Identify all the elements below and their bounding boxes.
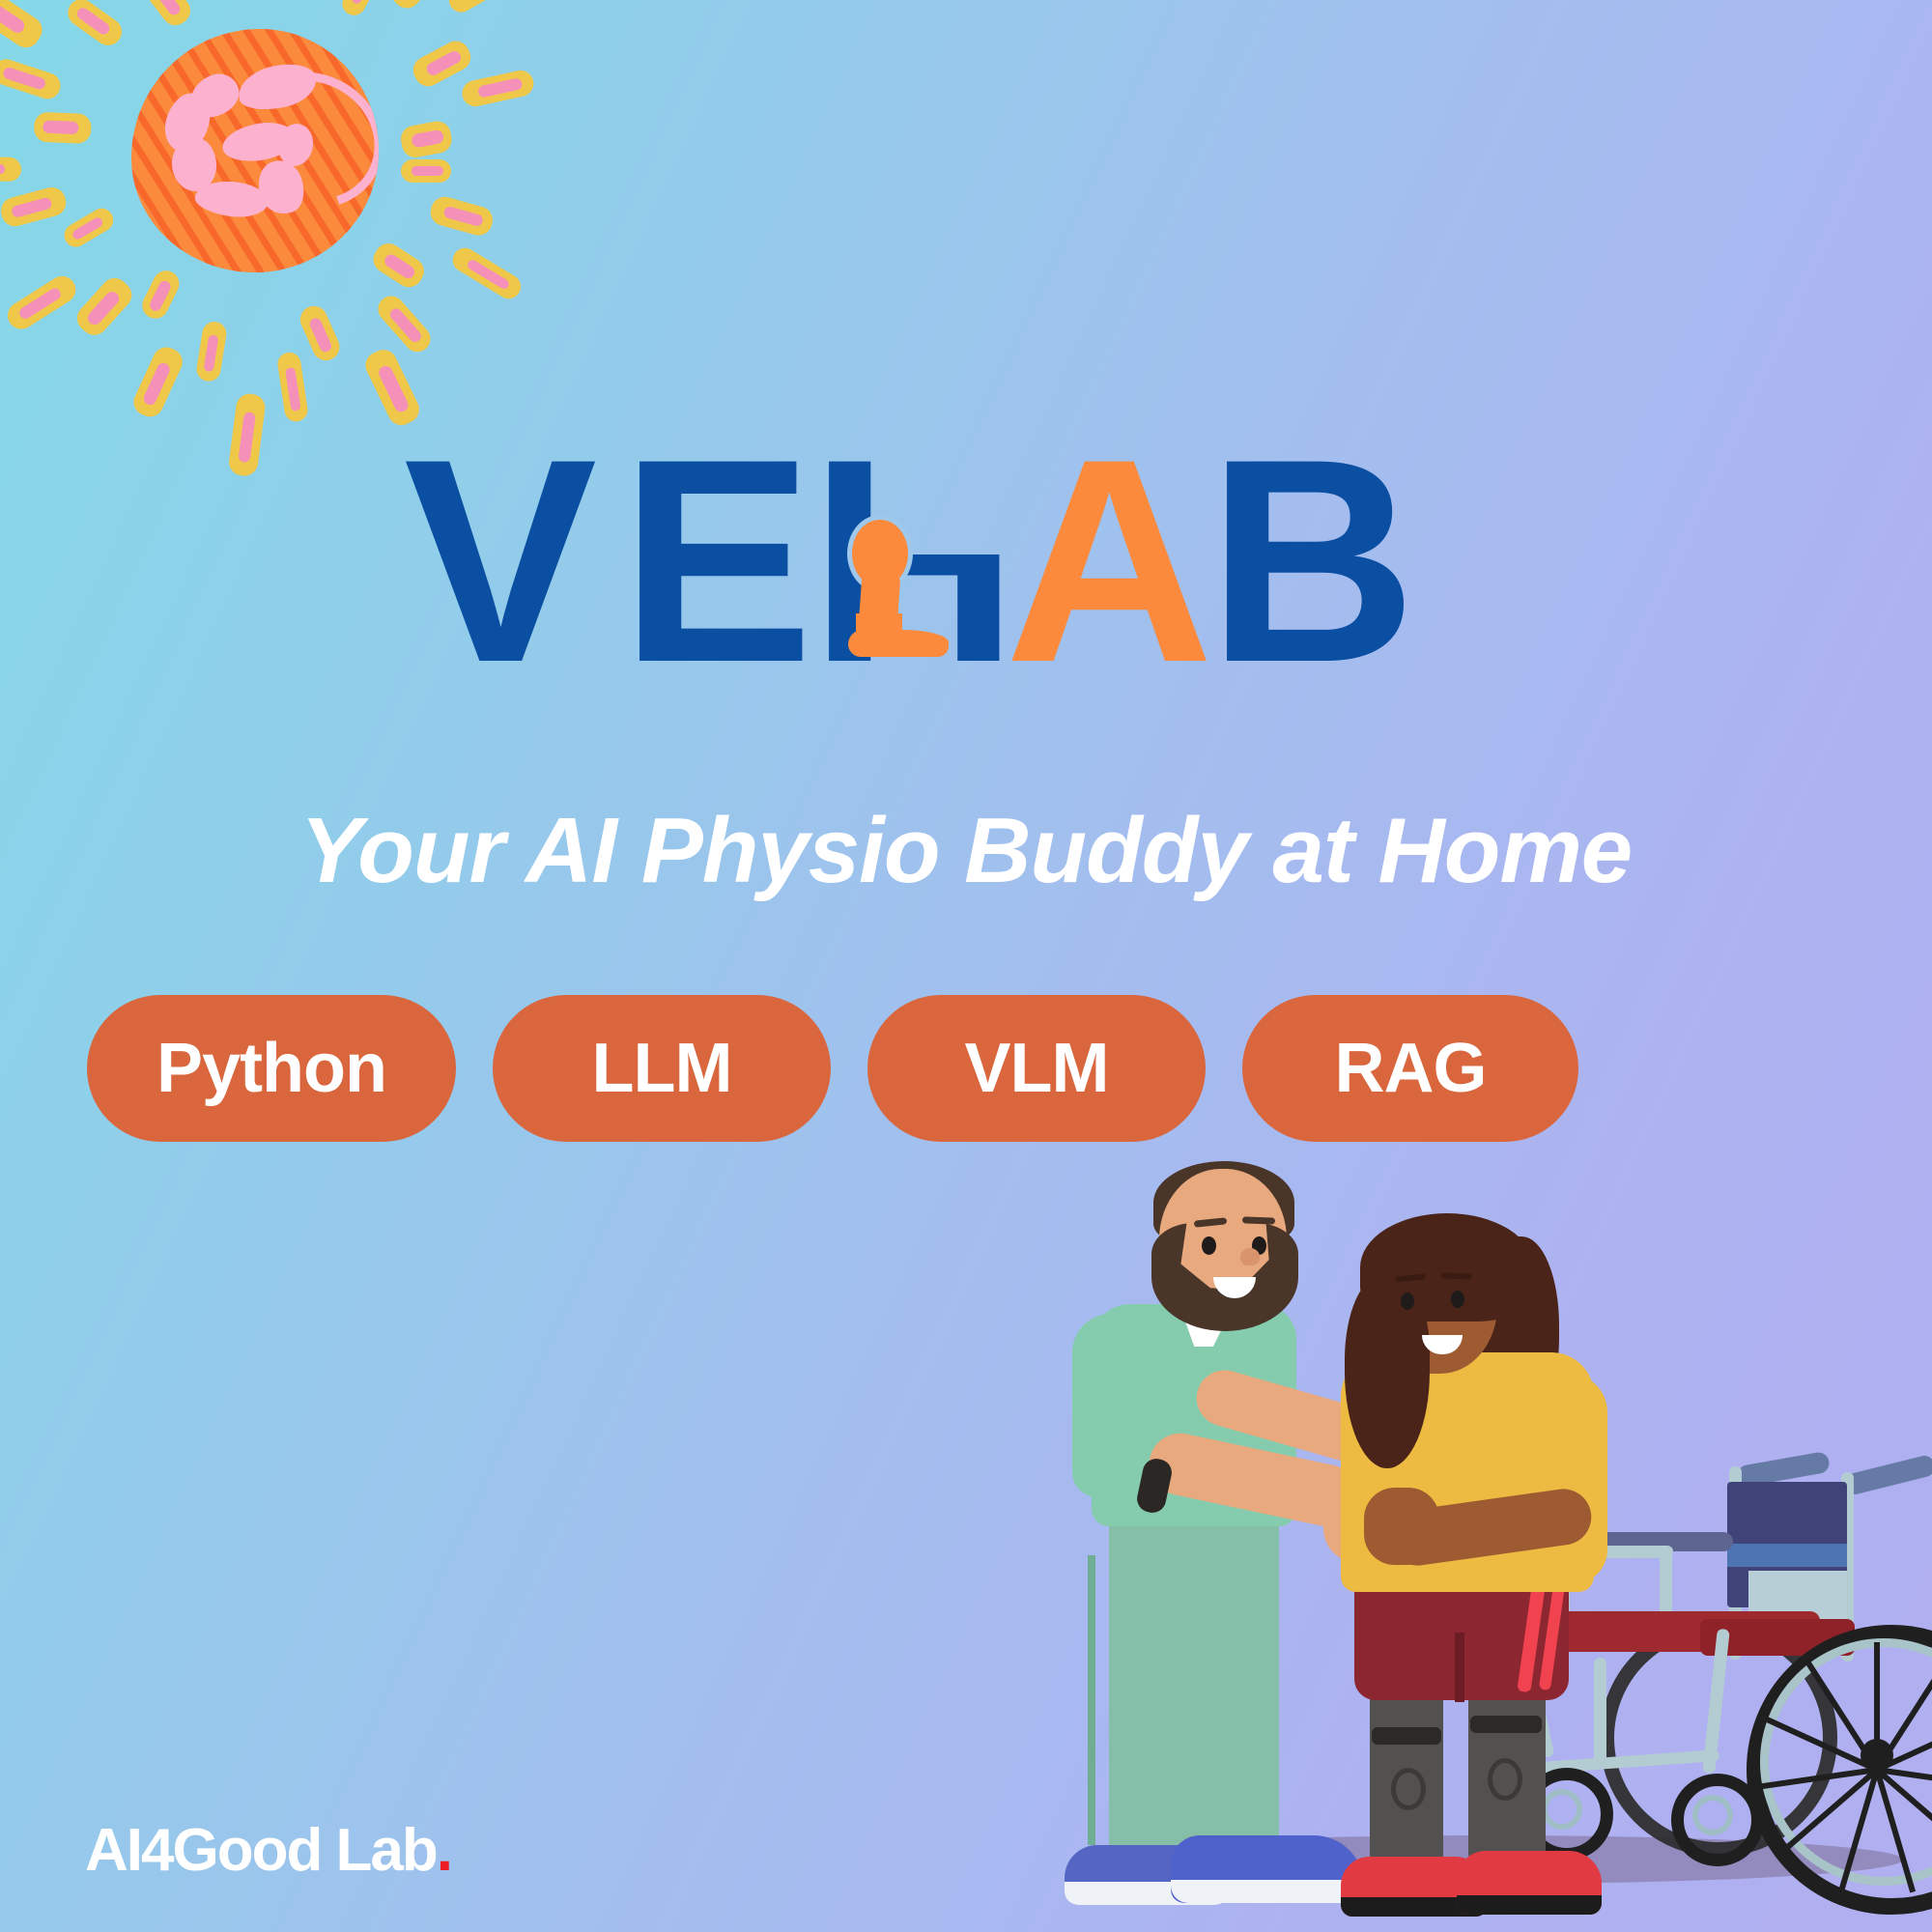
sun-ray xyxy=(142,0,195,31)
sun-core xyxy=(131,29,379,272)
shoe-icon xyxy=(1457,1851,1602,1915)
ai4good-lab-logo: AI4Good Lab. xyxy=(85,1816,451,1885)
tech-tag-llm[interactable]: LLM xyxy=(493,995,831,1142)
sun-ray xyxy=(129,343,187,421)
sun-ray xyxy=(62,0,127,50)
tech-tag-rag[interactable]: RAG xyxy=(1242,995,1578,1142)
sun-ray xyxy=(138,266,184,323)
physiotherapist-and-patient-illustration xyxy=(1005,1130,1932,1932)
sun-ray xyxy=(428,193,497,238)
vehab-logo: V E H A B xyxy=(0,415,1932,667)
sun-ray xyxy=(460,69,536,109)
sun-ray xyxy=(445,0,528,16)
tagline: Your AI Physio Buddy at Home xyxy=(0,798,1932,904)
logo-letter-v: V xyxy=(404,415,597,705)
sun-ray xyxy=(373,290,436,356)
logo-letter-e: E xyxy=(620,415,813,705)
tech-tag-list: Python LLM VLM RAG xyxy=(87,995,1855,1142)
sun-ray xyxy=(276,352,309,423)
shoe-icon xyxy=(1171,1835,1364,1903)
wheelchair-icon xyxy=(1565,1449,1932,1884)
sun-ray xyxy=(0,185,70,229)
sun-ray xyxy=(195,321,229,384)
sun-ray xyxy=(60,204,118,251)
sun-ray xyxy=(399,120,454,160)
ai4good-lab-wordmark: AI4Good Lab xyxy=(85,1817,437,1884)
sun-ray xyxy=(33,111,91,144)
sun-ray xyxy=(297,302,345,365)
ai4good-lab-dot: . xyxy=(437,1817,451,1884)
sun-ray xyxy=(401,159,451,183)
sun-ray xyxy=(447,243,525,303)
tech-tag-python[interactable]: Python xyxy=(87,995,456,1142)
sun-ray xyxy=(0,156,22,181)
prosthetic-leg-icon xyxy=(838,415,954,667)
sun-ray xyxy=(0,56,64,102)
sun-ray xyxy=(386,0,455,13)
logo-letter-a: A xyxy=(1005,415,1214,705)
tech-tag-vlm[interactable]: VLM xyxy=(867,995,1206,1142)
sun-ray xyxy=(3,270,81,334)
sun-ray xyxy=(338,0,385,18)
sun-ray xyxy=(71,273,137,341)
sun-ray xyxy=(0,0,46,53)
poster-canvas: V E H A B Your AI Physio Buddy at Home P… xyxy=(0,0,1932,1932)
logo-letter-b: B xyxy=(1207,415,1417,705)
